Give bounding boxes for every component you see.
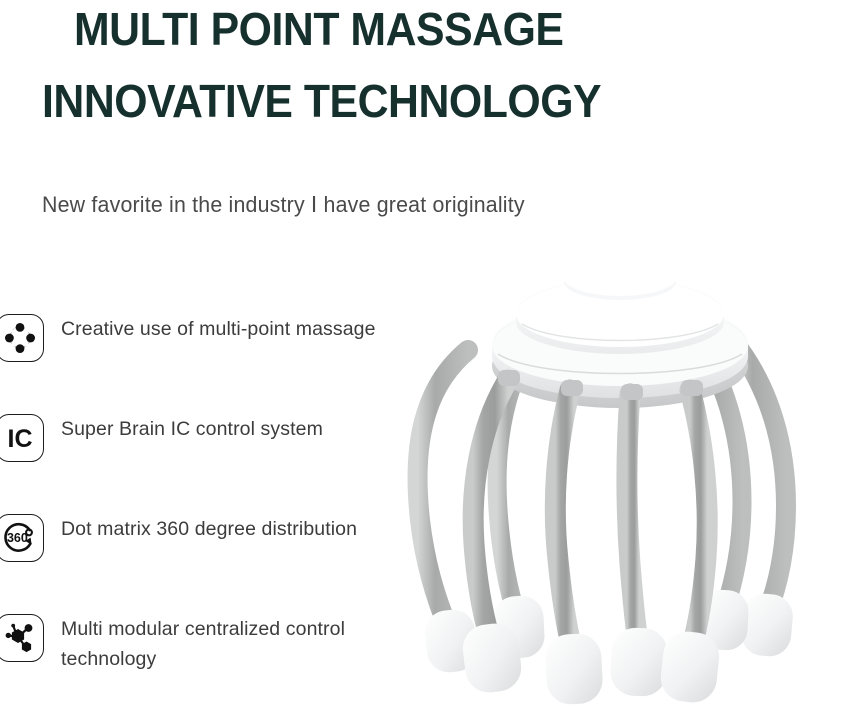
page-subtitle: New favorite in the industry Ⅰ have grea… [42, 192, 525, 218]
feature-item-ic-control: IC Super Brain IC control system [0, 412, 416, 512]
feature-label-modular-control: Multi modular centralized control techno… [61, 614, 391, 674]
ic-chip-icon: IC [0, 414, 44, 462]
massager-tips-front [460, 621, 721, 706]
feature-item-multi-point: Creative use of multi-point massage [0, 312, 416, 412]
rotation-360-icon-label: 360 [7, 531, 28, 545]
feature-list: Creative use of multi-point massage IC S… [0, 312, 416, 706]
feature-item-modular-control: Multi modular centralized control techno… [0, 612, 416, 706]
feature-item-360-distribution: 360 Dot matrix 360 degree distribution [0, 512, 416, 612]
feature-label-ic-control: Super Brain IC control system [61, 414, 323, 444]
product-image-head-massager [398, 238, 841, 706]
product-feature-banner: MULTI POINT MASSAGE INNOVATIVE TECHNOLOG… [0, 0, 841, 706]
massager-body [492, 260, 748, 408]
feature-label-360-distribution: Dot matrix 360 degree distribution [61, 514, 357, 544]
molecule-node-icon [0, 614, 44, 662]
page-title-line-2: INNOVATIVE TECHNOLOGY [42, 74, 601, 128]
ic-chip-icon-label: IC [8, 425, 33, 453]
page-title-line-1: MULTI POINT MASSAGE [74, 2, 563, 56]
rotation-360-icon: 360 [0, 514, 44, 562]
feature-label-multi-point: Creative use of multi-point massage [61, 314, 376, 344]
multi-point-diamond-icon [0, 314, 44, 362]
